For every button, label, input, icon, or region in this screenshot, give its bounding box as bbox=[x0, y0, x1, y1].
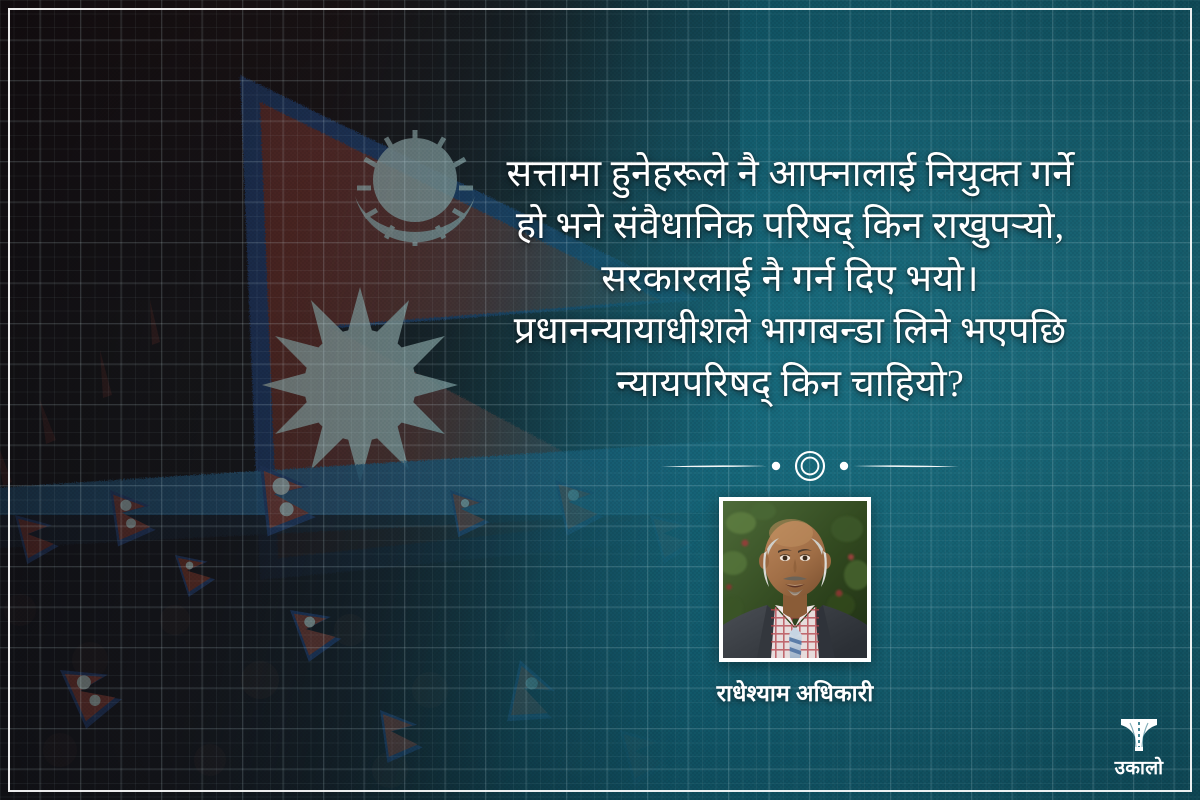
poster-canvas: सत्तामा हुनेहरूले नै आफ्नालाई नियुक्त गर… bbox=[0, 0, 1200, 800]
quote-line-2: हो भने संवैधानिक परिषद् किन राखुपर्‍यो, bbox=[420, 200, 1160, 252]
quote-text: सत्तामा हुनेहरूले नै आफ्नालाई नियुक्त गर… bbox=[420, 148, 1160, 410]
quote-line-3: सरकारलाई नै गर्न दिए भयो। bbox=[420, 253, 1160, 305]
quote-line-5: न्यायपरिषद् किन चाहियो? bbox=[420, 358, 1160, 410]
byline-name: राधेश्याम अधिकारी bbox=[600, 676, 990, 708]
brand-logo[interactable]: उकालो bbox=[1106, 713, 1172, 778]
brand-wordmark: उकालो bbox=[1106, 759, 1172, 778]
quote-line-4: प्रधानन्यायाधीशले भागबन्डा लिने भएपछि bbox=[420, 305, 1160, 357]
portrait-photo bbox=[723, 501, 867, 658]
ukaalo-mountain-road-icon bbox=[1117, 713, 1161, 757]
avatar bbox=[719, 497, 871, 662]
ornamental-divider-icon bbox=[655, 448, 965, 484]
quote-line-1: सत्तामा हुनेहरूले नै आफ्नालाई नियुक्त गर… bbox=[420, 148, 1160, 200]
